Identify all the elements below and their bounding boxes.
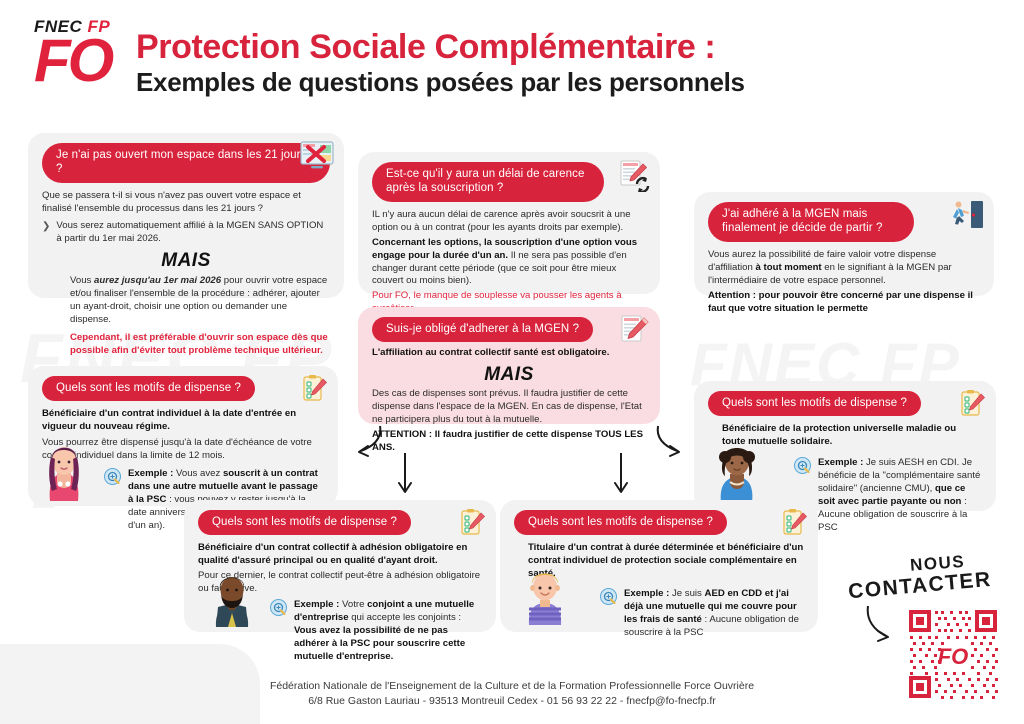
card-question-partir: J'ai adhéré à la MGEN mais finalement je…	[708, 202, 914, 242]
speech-bubble-icon	[600, 588, 617, 610]
card-dispense-cdd: Quels sont les motifs de dispense ? Titu…	[500, 500, 818, 632]
card-delai-carence: Est-ce qu'il y aura un délai de carence …	[358, 152, 660, 294]
oblige-p1: Des cas de dispenses sont prévus. Il fau…	[372, 388, 646, 427]
dispense-individuel-example-a: Vous avez	[176, 468, 223, 479]
card-question-carence: Est-ce qu'il y aura un délai de carence …	[372, 162, 604, 202]
espace21-mais: MAIS	[42, 248, 330, 274]
espace21-para: Vous aurez jusqu'au 1er mai 2026 pour ou…	[42, 275, 330, 327]
dispense-collectif-lead: Bénéficiaire d'un contrat collectif à ad…	[198, 542, 482, 568]
dispense-individuel-example-label: Exemple :	[128, 468, 176, 479]
dispense-puma-example-label: Exemple :	[818, 457, 866, 468]
avatar-young-man	[516, 565, 574, 630]
dispense-collectif-example-label: Exemple :	[294, 599, 342, 610]
footer-line-1: Fédération Nationale de l'Enseignement d…	[0, 679, 1024, 695]
avatar-woman-blue	[708, 440, 766, 507]
speech-bubble-icon	[794, 457, 811, 479]
card-dispense-contrat-collectif: Quels sont les motifs de dispense ? Béné…	[184, 500, 496, 632]
avatar-man-beard	[204, 567, 260, 632]
avatar-woman-pink	[36, 439, 92, 506]
dispense-collectif-example-a: Votre	[342, 599, 367, 610]
card-question-dispense-puma: Quels sont les motifs de dispense ?	[708, 391, 921, 416]
title-line-1: Protection Sociale Complémentaire :	[136, 28, 745, 66]
speech-bubble-icon	[104, 468, 121, 490]
document-pencil-icon	[620, 315, 650, 350]
espace21-intro: Que se passera t-il si vous n'avez pas o…	[42, 190, 330, 216]
clipboard-checklist-icon	[460, 508, 486, 543]
dispense-cdd-example: Exemple : Je suis AED en CDD et j'ai déj…	[624, 588, 804, 640]
qr-center-label: FO	[938, 644, 969, 669]
card-espace-21-jours: Je n'ai pas ouvert mon espace dans les 2…	[28, 133, 344, 298]
card-dispense-contrat-individuel: Quels sont les motifs de dispense ? Béné…	[28, 366, 338, 506]
card-body-oblige: L'affiliation au contrat collectif santé…	[372, 347, 646, 454]
infographic-page: FNEC FP FO FNEC FP FO FNEC FP FO Protect…	[0, 0, 1024, 724]
page-title: Protection Sociale Complémentaire : Exem…	[136, 28, 745, 98]
espace21-warning: Cependant, il est préférable d'ouvrir so…	[42, 332, 330, 358]
espace21-bullet: ❯ Vous serez automatiquement affilié à l…	[42, 220, 330, 246]
monitor-error-icon	[300, 141, 334, 176]
dispense-cdd-example-a: Je suis	[672, 588, 705, 599]
oblige-attention: ATTENTION : Il faudra justifier de cette…	[372, 429, 646, 455]
arrow-curve-to-qr-icon	[864, 604, 906, 649]
dispense-cdd-example-label: Exemple :	[624, 588, 672, 599]
fnec-fp-fo-logo: FNEC FP FO	[34, 18, 134, 100]
card-question-dispense-individuel: Quels sont les motifs de dispense ?	[42, 376, 255, 401]
oblige-lead: L'affiliation au contrat collectif santé…	[372, 347, 646, 360]
partir-p1: Vous aurez la possibilité de faire valoi…	[708, 249, 980, 288]
espace21-para-lead: Vous	[70, 275, 94, 286]
card-dispense-puma: Quels sont les motifs de dispense ? Béné…	[694, 381, 996, 511]
dispense-collectif-example-d: Vous avez la possibilité de ne pas adhér…	[294, 625, 465, 662]
dispense-collectif-example-c: qui accepte les conjoints :	[349, 612, 462, 623]
dispense-collectif-example: Exemple : Votre conjoint a une mutuelle …	[294, 599, 482, 664]
arrow-curve-right-icon	[650, 424, 690, 465]
speech-bubble-icon	[270, 599, 287, 621]
card-body-partir: Vous aurez la possibilité de faire valoi…	[708, 249, 980, 316]
partir-p1-b: à tout moment	[756, 262, 822, 273]
card-body-carence: IL n'y aura aucun délai de carence après…	[372, 209, 646, 317]
dispense-puma-example: Exemple : Je suis AESH en CDI. Je bénéfi…	[818, 457, 982, 535]
document-refresh-icon	[618, 160, 650, 197]
espace21-bullet-text: Vous serez automatiquement affilié à la …	[56, 220, 330, 246]
footer-line-2: 6/8 Rue Gaston Lauriau - 93513 Montreuil…	[0, 694, 1024, 710]
card-question-oblige: Suis-je obligé d'adherer à la MGEN ?	[372, 317, 593, 342]
carence-p1: IL n'y aura aucun délai de carence après…	[372, 209, 646, 235]
contact-heading: NOUS CONTACTER	[848, 552, 1018, 597]
arrow-down-left-icon	[396, 452, 414, 501]
card-decide-partir: J'ai adhéré à la MGEN mais finalement je…	[694, 192, 994, 296]
exit-door-icon	[950, 200, 984, 235]
logo-fo-text: FO	[34, 36, 134, 85]
card-question-espace21: Je n'ai pas ouvert mon espace dans les 2…	[42, 143, 330, 183]
clipboard-checklist-icon	[302, 374, 328, 409]
clipboard-checklist-icon	[960, 389, 986, 424]
chevron-right-icon: ❯	[42, 220, 50, 246]
card-question-dispense-cdd: Quels sont les motifs de dispense ?	[514, 510, 727, 535]
espace21-para-bold: aurez jusqu'au 1er mai 2026	[94, 275, 221, 286]
title-line-2: Exemples de questions posées par les per…	[136, 68, 745, 98]
card-suis-je-oblige: Suis-je obligé d'adherer à la MGEN ? L'a…	[358, 307, 660, 424]
card-question-dispense-collectif: Quels sont les motifs de dispense ?	[198, 510, 411, 535]
dispense-individuel-lead: Bénéficiaire d'un contrat individuel à l…	[42, 408, 324, 434]
title-line-1-text: Protection Sociale Complémentaire :	[136, 28, 715, 66]
card-body-espace21: Que se passera t-il si vous n'avez pas o…	[42, 190, 330, 358]
oblige-mais: MAIS	[372, 362, 646, 388]
carence-p2: Concernant les options, la souscription …	[372, 237, 646, 289]
arrow-down-right-icon	[612, 452, 630, 501]
partir-attention: Attention : pour pouvoir être concerné p…	[708, 290, 980, 316]
footer: Fédération Nationale de l'Enseignement d…	[0, 679, 1024, 711]
clipboard-checklist-icon	[782, 508, 808, 543]
